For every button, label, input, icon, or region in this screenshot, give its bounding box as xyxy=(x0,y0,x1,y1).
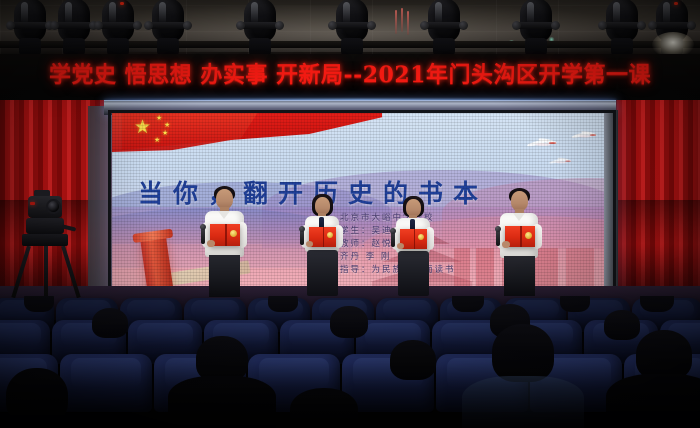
performer-2 xyxy=(299,194,347,296)
performer-hand xyxy=(306,241,313,247)
event-banner-title: 学党史 悟思想 办实事 开新局--2021年门头沟区开学第一课 xyxy=(0,60,700,90)
audience-head xyxy=(452,296,484,312)
folder-emblem xyxy=(418,234,424,240)
ceiling-tube-light xyxy=(401,8,403,32)
audience-shoulders xyxy=(606,374,700,428)
stage-spotlight xyxy=(96,0,140,58)
microphone xyxy=(496,230,500,246)
audience-head xyxy=(6,368,68,424)
stage-curtain-right xyxy=(612,100,700,300)
ceiling-tube-light xyxy=(395,10,397,34)
crane-bird-icon xyxy=(571,131,598,140)
camera-lens xyxy=(46,199,61,214)
performer-1 xyxy=(196,186,252,296)
performer-head xyxy=(511,191,528,211)
seat xyxy=(60,354,152,412)
folder-emblem xyxy=(525,232,532,239)
performer-4 xyxy=(492,188,546,296)
performer-trousers xyxy=(209,255,240,297)
audience-head xyxy=(560,296,590,312)
auditorium-seating xyxy=(0,296,700,428)
folder-emblem xyxy=(327,232,333,238)
stage-spotlight xyxy=(238,0,282,58)
crane-bird-icon xyxy=(527,138,559,148)
tripod-plate xyxy=(22,234,68,246)
audience-shoulders xyxy=(168,376,276,428)
audience-head xyxy=(330,306,368,338)
stage-spotlight xyxy=(8,0,52,58)
crane-bird-icon xyxy=(549,158,573,166)
audience-head xyxy=(636,330,692,380)
stage-spotlight xyxy=(600,0,644,58)
audience-head xyxy=(24,296,54,312)
performer-3 xyxy=(390,196,438,296)
tripod-leg xyxy=(44,246,48,302)
stage-left-panel xyxy=(88,106,114,292)
red-folder xyxy=(309,227,336,247)
audience-head xyxy=(492,324,554,382)
performer-head xyxy=(216,189,233,209)
performer-hand xyxy=(502,241,510,248)
folder-emblem xyxy=(230,230,237,237)
microphone xyxy=(201,228,205,244)
flag-star-large: ★ xyxy=(134,118,151,137)
stage-spotlight xyxy=(146,0,190,58)
performer-skirt xyxy=(398,251,429,296)
microphone xyxy=(300,230,304,245)
camera-record-light xyxy=(30,202,35,205)
audience-head xyxy=(290,388,358,428)
stage-spotlight xyxy=(52,0,96,58)
flag-star-small: ★ xyxy=(162,130,168,137)
performer-hand xyxy=(207,240,215,247)
audience-head xyxy=(390,340,436,380)
stage-spotlight xyxy=(422,0,466,58)
red-folder xyxy=(400,229,427,249)
stage-spotlight xyxy=(330,0,374,58)
flag-star-small: ★ xyxy=(164,122,170,129)
auditorium-stage-photo: 学党史 悟思想 办实事 开新局--2021年门头沟区开学第一课 ★ ★ ★ ★ … xyxy=(0,0,700,428)
audience-head xyxy=(640,296,674,312)
video-camera-tripod xyxy=(18,196,74,304)
microphone xyxy=(391,232,395,247)
tripod-head xyxy=(26,218,64,234)
performer-trousers xyxy=(504,256,535,296)
flag-star-small: ★ xyxy=(154,137,160,144)
performer-hand xyxy=(397,243,404,249)
led-screen-right-edge xyxy=(604,110,618,298)
performer-skirt xyxy=(307,250,338,296)
performer-collar xyxy=(513,213,525,221)
stage-spotlight-lit xyxy=(650,0,694,58)
stage-spotlight xyxy=(514,0,558,58)
audience-head xyxy=(92,308,128,338)
ceiling-tube-light xyxy=(407,11,409,35)
audience-head xyxy=(604,310,640,340)
audience-head xyxy=(268,296,298,312)
audience-shoulders xyxy=(462,376,584,428)
flag-star-small: ★ xyxy=(156,115,162,122)
performer-collar xyxy=(218,211,230,219)
